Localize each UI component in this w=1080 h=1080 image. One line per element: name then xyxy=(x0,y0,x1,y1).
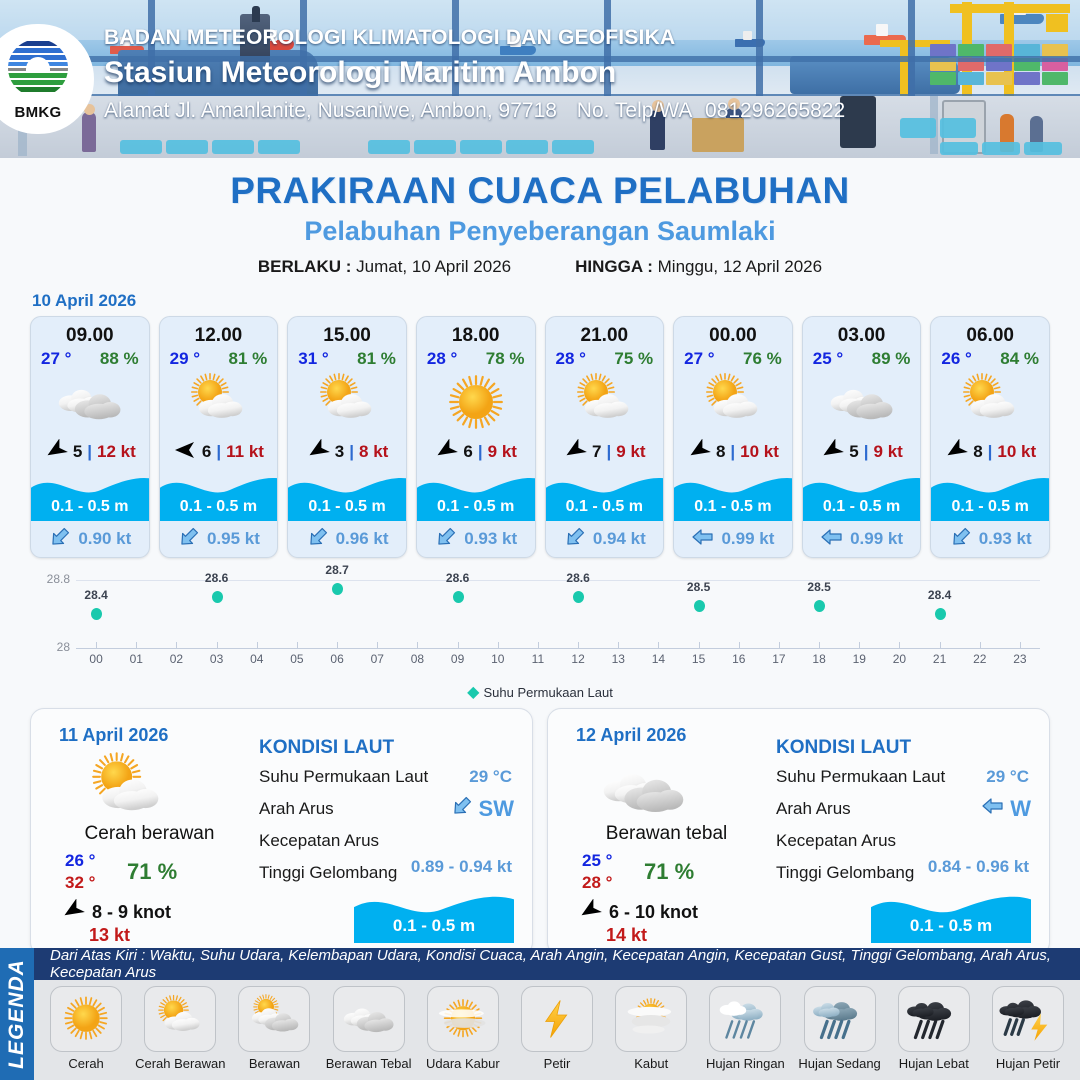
chart-data-point xyxy=(573,591,584,603)
title-block: PRAKIRAAN CUACA PELABUHAN Pelabuhan Peny… xyxy=(0,158,1080,277)
chart-legend: ◆Suhu Permukaan Laut xyxy=(0,682,1080,702)
legend-item: Berawan Tebal xyxy=(323,986,415,1071)
current-direction-label: Arah Arus xyxy=(259,799,334,818)
card-humidity: 81 % xyxy=(229,349,268,369)
hourly-card: 09.00 27 ° 88 % xyxy=(30,316,150,558)
card-wave-height: 0.1 - 0.5 m xyxy=(674,498,792,516)
legend-item-label: Berawan Tebal xyxy=(323,1056,415,1071)
chart-x-tick: 09 xyxy=(447,652,469,666)
card-current-speed: 0.93 kt xyxy=(464,529,517,549)
current-direction-icon xyxy=(563,526,587,553)
card-humidity: 75 % xyxy=(614,349,653,369)
valid-from: BERLAKU : Jumat, 10 April 2026 xyxy=(258,257,511,277)
card-temperature: 28 ° xyxy=(556,349,586,369)
weather-cloudy-sun-icon xyxy=(238,986,310,1052)
card-gust: 8 kt xyxy=(359,442,388,462)
card-wave-height: 0.1 - 0.5 m xyxy=(803,498,921,516)
chart-x-tick: 06 xyxy=(326,652,348,666)
card-time: 12.00 xyxy=(160,317,278,347)
chart-x-tick: 05 xyxy=(286,652,308,666)
valid-to-value: Minggu, 12 April 2026 xyxy=(658,257,822,276)
weather-sunny-icon xyxy=(50,986,122,1052)
card-separator: | xyxy=(988,442,993,462)
daily-humidity: 71 % xyxy=(644,859,694,885)
valid-from-value: Jumat, 10 April 2026 xyxy=(356,257,511,276)
daily-temp-min: 26 ° xyxy=(65,851,95,871)
current-direction-icon xyxy=(450,795,474,823)
weather-sunny-icon xyxy=(417,371,535,435)
phone-label: No. Telp/WA xyxy=(577,99,691,122)
card-current-speed: 0.96 kt xyxy=(336,529,389,549)
legend-item: Udara Kabur xyxy=(417,986,509,1071)
card-gust: 9 kt xyxy=(488,442,517,462)
wind-direction-icon xyxy=(306,439,330,466)
card-temperature: 25 ° xyxy=(813,349,843,369)
chart-x-tick: 02 xyxy=(165,652,187,666)
card-gust: 10 kt xyxy=(997,442,1036,462)
current-direction-icon xyxy=(981,795,1005,823)
valid-to-label: HINGGA : xyxy=(575,257,653,276)
legend-item: Berawan xyxy=(228,986,320,1071)
daily-temp-min: 25 ° xyxy=(582,851,612,871)
chart-data-point xyxy=(694,600,705,612)
card-wave-band: 0.1 - 0.5 m xyxy=(931,469,1049,521)
legend-item: Hujan Ringan xyxy=(699,986,791,1071)
legend-item-label: Kabut xyxy=(605,1056,697,1071)
wind-direction-icon xyxy=(563,439,587,466)
card-current-speed: 0.94 kt xyxy=(593,529,646,549)
card-humidity: 84 % xyxy=(1000,349,1039,369)
chart-point-label: 28.5 xyxy=(801,580,837,594)
daily-condition: Berawan tebal xyxy=(564,823,769,845)
weather-lightning-icon xyxy=(521,986,593,1052)
card-wave-height: 0.1 - 0.5 m xyxy=(288,498,406,516)
card-wave-band: 0.1 - 0.5 m xyxy=(674,469,792,521)
card-time: 03.00 xyxy=(803,317,921,347)
card-separator: | xyxy=(864,442,869,462)
card-time: 06.00 xyxy=(931,317,1049,347)
card-current-speed: 0.95 kt xyxy=(207,529,260,549)
chart-point-label: 28.4 xyxy=(922,588,958,602)
chart-data-point xyxy=(332,583,343,595)
chart-x-tick: 17 xyxy=(768,652,790,666)
sst-value: 29 °C xyxy=(986,767,1029,787)
weather-partly-cloudy-icon xyxy=(674,371,792,435)
chart-x-tick: 22 xyxy=(969,652,991,666)
legend-item: Hujan Sedang xyxy=(794,986,886,1071)
sst-label: Suhu Permukaan Laut xyxy=(776,767,945,786)
chart-point-label: 28.6 xyxy=(560,571,596,585)
weather-haze-icon xyxy=(427,986,499,1052)
weather-thunderstorm-icon xyxy=(992,986,1064,1052)
card-wave-band: 0.1 - 0.5 m xyxy=(288,469,406,521)
chart-x-tick: 07 xyxy=(366,652,388,666)
wind-direction-icon xyxy=(173,439,197,466)
chart-legend-marker-icon: ◆ xyxy=(467,684,479,701)
daily-humidity: 71 % xyxy=(127,859,177,885)
card-wave-height: 0.1 - 0.5 m xyxy=(417,498,535,516)
agency-name: BADAN METEOROLOGI KLIMATOLOGI DAN GEOFIS… xyxy=(104,26,845,50)
page-header: BMKG BADAN METEOROLOGI KLIMATOLOGI DAN G… xyxy=(0,0,1080,158)
weather-cloudy-icon xyxy=(333,986,405,1052)
card-gust: 11 kt xyxy=(226,442,264,462)
chart-x-tick: 12 xyxy=(567,652,589,666)
card-wave-band: 0.1 - 0.5 m xyxy=(417,469,535,521)
card-time: 21.00 xyxy=(546,317,664,347)
daily-wind-value: 6 - 10 knot xyxy=(609,902,698,923)
daily-wind: 6 - 10 knot xyxy=(578,899,698,926)
current-direction-label: Arah Arus xyxy=(776,799,851,818)
chart-x-tick: 20 xyxy=(888,652,910,666)
legend-item-label: Hujan Ringan xyxy=(699,1056,791,1071)
hourly-card: 15.00 31 ° 81 % xyxy=(287,316,407,558)
chart-point-label: 28.4 xyxy=(78,588,114,602)
legend-item-label: Cerah Berawan xyxy=(134,1056,226,1071)
chart-x-tick: 19 xyxy=(848,652,870,666)
page-subtitle: Pelabuhan Penyeberangan Saumlaki xyxy=(0,216,1080,247)
card-time: 18.00 xyxy=(417,317,535,347)
card-temperature: 29 ° xyxy=(170,349,200,369)
daily-forecast-card: 11 April 2026 Cerah berawan 26 ° xyxy=(30,708,533,956)
sea-conditions-title: KONDISI LAUT xyxy=(776,737,1035,759)
daily-forecast-row: 11 April 2026 Cerah berawan 26 ° xyxy=(0,702,1080,956)
valid-to: HINGGA : Minggu, 12 April 2026 xyxy=(575,257,822,277)
card-temperature: 27 ° xyxy=(41,349,71,369)
current-direction-value-group: SW xyxy=(450,795,514,823)
current-direction-row: Arah Arus W xyxy=(776,799,1035,831)
legend-description-bar: Dari Atas Kiri : Waktu, Suhu Udara, Kele… xyxy=(34,948,1080,980)
current-direction-value: SW xyxy=(479,796,514,822)
card-wind-speed: 3 xyxy=(335,442,344,462)
card-humidity: 88 % xyxy=(100,349,139,369)
card-wave-height: 0.1 - 0.5 m xyxy=(546,498,664,516)
wind-direction-icon xyxy=(434,439,458,466)
legend-item-label: Udara Kabur xyxy=(417,1056,509,1071)
chart-x-tick: 10 xyxy=(487,652,509,666)
card-temperature: 27 ° xyxy=(684,349,714,369)
station-contact: Alamat Jl. Amanlanite, Nusaniwe, Ambon, … xyxy=(104,99,845,123)
chart-x-tick: 00 xyxy=(85,652,107,666)
card-time: 15.00 xyxy=(288,317,406,347)
current-direction-value: W xyxy=(1010,796,1031,822)
card-separator: | xyxy=(349,442,354,462)
weather-cloudy-icon xyxy=(31,371,149,435)
current-speed-label: Kecepatan Arus xyxy=(776,831,896,850)
current-direction-row: Arah Arus SW xyxy=(259,799,518,831)
daily-condition: Cerah berawan xyxy=(47,823,252,845)
daily-wave-height: 0.1 - 0.5 m xyxy=(354,916,514,936)
card-wind-speed: 8 xyxy=(716,442,725,462)
legend-icon-list: Cerah Cerah Berawan xyxy=(34,980,1080,1071)
weather-partly-cloudy-icon xyxy=(144,986,216,1052)
legend-item-label: Hujan Sedang xyxy=(794,1056,886,1071)
card-time: 09.00 xyxy=(31,317,149,347)
chart-data-point xyxy=(935,608,946,620)
card-wave-height: 0.1 - 0.5 m xyxy=(931,498,1049,516)
current-direction-icon xyxy=(306,526,330,553)
current-direction-icon xyxy=(48,526,72,553)
legend-item: Hujan Lebat xyxy=(888,986,980,1071)
legend-item: Cerah Berawan xyxy=(134,986,226,1071)
daily-forecast-card: 12 April 2026 Be xyxy=(547,708,1050,956)
card-temperature: 31 ° xyxy=(298,349,328,369)
card-gust: 10 kt xyxy=(740,442,779,462)
wind-direction-icon xyxy=(687,439,711,466)
wave-height-label: Tinggi Gelombang xyxy=(776,863,914,882)
hourly-card: 18.00 28 ° 78 % 6 xyxy=(416,316,536,558)
wave-height-label: Tinggi Gelombang xyxy=(259,863,397,882)
card-wave-height: 0.1 - 0.5 m xyxy=(31,498,149,516)
card-wind-speed: 7 xyxy=(592,442,601,462)
card-wave-band: 0.1 - 0.5 m xyxy=(31,469,149,521)
daily-date: 11 April 2026 xyxy=(59,725,168,746)
sst-chart: 28.8 28 00010203040506070809101112131415… xyxy=(30,570,1050,678)
daily-wave-height: 0.1 - 0.5 m xyxy=(871,916,1031,936)
hourly-card: 12.00 29 ° 81 % xyxy=(159,316,279,558)
card-separator: | xyxy=(216,442,221,462)
legend-item-label: Hujan Lebat xyxy=(888,1056,980,1071)
legend-item: Cerah xyxy=(40,986,132,1071)
bmkg-logo-emblem xyxy=(8,39,68,97)
current-speed-row: Kecepatan Arus 0.84 - 0.96 kt xyxy=(776,831,1035,863)
weather-fog-icon xyxy=(615,986,687,1052)
chart-data-point xyxy=(814,600,825,612)
chart-data-point xyxy=(453,591,464,603)
card-time: 00.00 xyxy=(674,317,792,347)
weather-moderate-rain-icon xyxy=(804,986,876,1052)
chart-x-tick: 18 xyxy=(808,652,830,666)
chart-legend-label: Suhu Permukaan Laut xyxy=(483,685,612,700)
hourly-card: 00.00 27 ° 76 % xyxy=(673,316,793,558)
chart-x-tick: 21 xyxy=(929,652,951,666)
hourly-forecast-row: 09.00 27 ° 88 % xyxy=(0,316,1080,558)
card-gust: 9 kt xyxy=(616,442,645,462)
card-wave-band: 0.1 - 0.5 m xyxy=(160,469,278,521)
chart-x-tick: 15 xyxy=(688,652,710,666)
chart-x-tick: 04 xyxy=(246,652,268,666)
card-separator: | xyxy=(87,442,92,462)
weather-cloudy-icon xyxy=(803,371,921,435)
card-separator: | xyxy=(607,442,612,462)
card-gust: 12 kt xyxy=(97,442,136,462)
card-wave-band: 0.1 - 0.5 m xyxy=(803,469,921,521)
card-separator: | xyxy=(730,442,735,462)
card-humidity: 78 % xyxy=(486,349,525,369)
card-wind-speed: 6 xyxy=(202,442,211,462)
current-direction-value-group: W xyxy=(981,795,1031,823)
chart-data-point xyxy=(91,608,102,620)
legend-item: Petir xyxy=(511,986,603,1071)
card-humidity: 81 % xyxy=(357,349,396,369)
weather-heavy-rain-icon xyxy=(898,986,970,1052)
wind-direction-icon xyxy=(44,439,68,466)
card-wind-speed: 6 xyxy=(463,442,472,462)
legend-item: Hujan Petir xyxy=(982,986,1074,1071)
card-temperature: 28 ° xyxy=(427,349,457,369)
legend-side-label: LEGENDA xyxy=(5,959,29,1069)
chart-point-label: 28.5 xyxy=(681,580,717,594)
valid-from-label: BERLAKU : xyxy=(258,257,352,276)
card-current-speed: 0.90 kt xyxy=(78,529,131,549)
daily-wave-badge: 0.1 - 0.5 m xyxy=(354,887,514,943)
weather-partly-cloudy-icon xyxy=(160,371,278,435)
chart-point-label: 28.7 xyxy=(319,563,355,577)
card-wind-speed: 5 xyxy=(849,442,858,462)
daily-wind-value: 8 - 9 knot xyxy=(92,902,171,923)
current-direction-icon xyxy=(434,526,458,553)
sst-label: Suhu Permukaan Laut xyxy=(259,767,428,786)
chart-x-tick: 23 xyxy=(1009,652,1031,666)
current-direction-icon xyxy=(177,526,201,553)
daily-gust: 13 kt xyxy=(89,925,130,946)
validity-row: BERLAKU : Jumat, 10 April 2026 HINGGA : … xyxy=(0,257,1080,277)
current-speed-label: Kecepatan Arus xyxy=(259,831,379,850)
chart-x-tick: 16 xyxy=(728,652,750,666)
legend-item-label: Cerah xyxy=(40,1056,132,1071)
station-address: Alamat Jl. Amanlanite, Nusaniwe, Ambon, … xyxy=(104,99,557,122)
daily-wave-badge: 0.1 - 0.5 m xyxy=(871,887,1031,943)
chart-x-tick: 01 xyxy=(125,652,147,666)
station-name: Stasiun Meteorologi Maritim Ambon xyxy=(104,56,845,90)
card-separator: | xyxy=(478,442,483,462)
chart-point-label: 28.6 xyxy=(199,571,235,585)
card-temperature: 26 ° xyxy=(941,349,971,369)
current-direction-icon xyxy=(949,526,973,553)
wind-direction-icon xyxy=(578,899,602,926)
daily-temp-max: 32 ° xyxy=(65,873,95,893)
hourly-card: 06.00 26 ° 84 % xyxy=(930,316,1050,558)
card-current-speed: 0.93 kt xyxy=(979,529,1032,549)
card-humidity: 89 % xyxy=(872,349,911,369)
legend-description: Dari Atas Kiri : Waktu, Suhu Udara, Kele… xyxy=(50,947,1080,981)
card-current-speed: 0.99 kt xyxy=(721,529,774,549)
card-wind-speed: 8 xyxy=(973,442,982,462)
weather-partly-cloudy-icon xyxy=(288,371,406,435)
card-humidity: 76 % xyxy=(743,349,782,369)
weather-partly-cloudy-icon xyxy=(546,371,664,435)
chart-point-label: 28.6 xyxy=(440,571,476,585)
legend-item-label: Petir xyxy=(511,1056,603,1071)
legend-item: Kabut xyxy=(605,986,697,1071)
wind-direction-icon xyxy=(820,439,844,466)
wind-direction-icon xyxy=(61,899,85,926)
daily-wind: 8 - 9 knot xyxy=(61,899,171,926)
current-direction-icon xyxy=(820,526,844,553)
legend-section: LEGENDA Dari Atas Kiri : Waktu, Suhu Uda… xyxy=(0,948,1080,1080)
phone-number: 081296265822 xyxy=(705,99,845,122)
chart-x-tick: 03 xyxy=(206,652,228,666)
legend-side-bar: LEGENDA xyxy=(0,948,34,1080)
chart-x-tick: 14 xyxy=(647,652,669,666)
sea-conditions-title: KONDISI LAUT xyxy=(259,737,518,759)
daily-date: 12 April 2026 xyxy=(576,725,686,746)
hourly-card: 03.00 25 ° 89 % xyxy=(802,316,922,558)
legend-item-label: Berawan xyxy=(228,1056,320,1071)
legend-item-label: Hujan Petir xyxy=(982,1056,1074,1071)
card-wind-speed: 5 xyxy=(73,442,82,462)
hourly-card: 21.00 28 ° 75 % xyxy=(545,316,665,558)
weather-partly-cloudy-icon xyxy=(931,371,1049,435)
card-current-speed: 0.99 kt xyxy=(850,529,903,549)
chart-x-tick: 13 xyxy=(607,652,629,666)
current-direction-icon xyxy=(691,526,715,553)
wind-direction-icon xyxy=(944,439,968,466)
card-wave-band: 0.1 - 0.5 m xyxy=(546,469,664,521)
chart-x-tick: 08 xyxy=(406,652,428,666)
current-speed-row: Kecepatan Arus 0.89 - 0.94 kt xyxy=(259,831,518,863)
card-wave-height: 0.1 - 0.5 m xyxy=(160,498,278,516)
daily-temp-max: 28 ° xyxy=(582,873,612,893)
hourly-day-label: 10 April 2026 xyxy=(32,291,1080,311)
daily-gust: 14 kt xyxy=(606,925,647,946)
chart-x-tick: 11 xyxy=(527,652,549,666)
page-title: PRAKIRAAN CUACA PELABUHAN xyxy=(0,170,1080,212)
chart-data-point xyxy=(212,591,223,603)
weather-light-rain-icon xyxy=(709,986,781,1052)
card-gust: 9 kt xyxy=(874,442,903,462)
bmkg-logo-text: BMKG xyxy=(0,104,77,121)
sst-value: 29 °C xyxy=(469,767,512,787)
